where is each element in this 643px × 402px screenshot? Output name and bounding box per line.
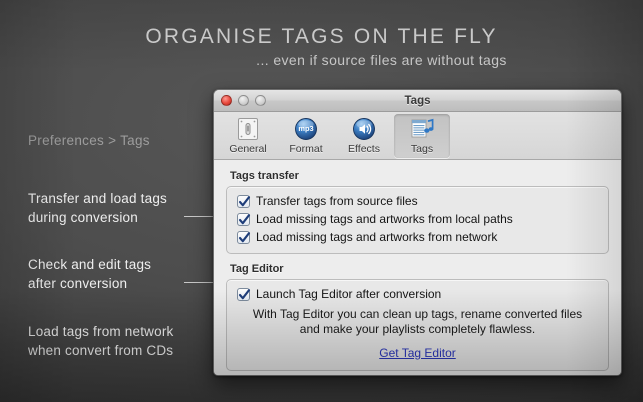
checkbox-row-transfer-tags[interactable]: Transfer tags from source files xyxy=(237,194,598,209)
checkmark-icon xyxy=(238,288,251,302)
toolbar-item-general-label: General xyxy=(229,143,266,155)
tag-editor-description-line1: With Tag Editor you can clean up tags, r… xyxy=(253,307,582,321)
checkmark-icon xyxy=(238,231,251,245)
checkbox-label-network: Load missing tags and artworks from netw… xyxy=(256,230,497,245)
checkbox-row-launch-tag-editor[interactable]: Launch Tag Editor after conversion xyxy=(237,287,598,302)
window-titlebar: Tags xyxy=(214,90,621,112)
toolbar-item-effects[interactable]: Effects xyxy=(336,114,392,158)
checkbox-transfer-tags[interactable] xyxy=(237,195,250,208)
toolbar-item-tags[interactable]: Tags xyxy=(394,114,450,158)
toolbar-item-format[interactable]: mp3 Format xyxy=(278,114,334,158)
tag-editor-description-line2: and make your playlists completely flawl… xyxy=(300,322,535,336)
tags-note-icon xyxy=(409,116,435,142)
preferences-window: Tags General xyxy=(213,89,622,376)
tag-editor-link-wrap: Get Tag Editor xyxy=(237,344,598,362)
toolbar-item-format-label: Format xyxy=(289,143,322,155)
checkbox-label-launch-tag-editor: Launch Tag Editor after conversion xyxy=(256,287,441,302)
breadcrumb: Preferences > Tags xyxy=(28,133,150,148)
toolbar-item-tags-label: Tags xyxy=(411,143,433,155)
checkbox-label-transfer-tags: Transfer tags from source files xyxy=(256,194,418,209)
mp3-badge-icon: mp3 xyxy=(293,116,319,142)
preferences-content: Tags transfer Transfer tags from source … xyxy=(214,160,621,376)
toolbar-item-general[interactable]: General xyxy=(220,114,276,158)
checkbox-row-local-paths[interactable]: Load missing tags and artworks from loca… xyxy=(237,212,598,227)
section-label-tags-transfer: Tags transfer xyxy=(230,170,609,182)
preferences-toolbar: General mp3 Format xyxy=(214,112,621,160)
annotation-note-1: Transfer and load tagsduring conversion xyxy=(28,189,167,227)
get-tag-editor-link[interactable]: Get Tag Editor xyxy=(379,346,456,360)
section-tags-transfer: Transfer tags from source files Load mis… xyxy=(226,186,609,254)
tag-editor-description: With Tag Editor you can clean up tags, r… xyxy=(237,307,598,337)
annotation-note-2: Check and edit tagsafter conversion xyxy=(28,255,151,293)
svg-text:mp3: mp3 xyxy=(298,124,313,133)
checkbox-launch-tag-editor[interactable] xyxy=(237,288,250,301)
checkbox-label-local-paths: Load missing tags and artworks from loca… xyxy=(256,212,513,227)
annotation-note-3: Load tags from networkwhen convert from … xyxy=(28,322,173,360)
checkmark-icon xyxy=(238,213,251,227)
speaker-icon xyxy=(351,116,377,142)
checkbox-local-paths[interactable] xyxy=(237,213,250,226)
section-label-tag-editor: Tag Editor xyxy=(230,263,609,275)
poster-headline: ORGANISE TAGS ON THE FLY xyxy=(0,25,643,49)
section-tag-editor: Launch Tag Editor after conversion With … xyxy=(226,279,609,371)
checkbox-network[interactable] xyxy=(237,231,250,244)
toolbar-item-effects-label: Effects xyxy=(348,143,380,155)
window-title: Tags xyxy=(214,95,621,107)
checkbox-row-network[interactable]: Load missing tags and artworks from netw… xyxy=(237,230,598,245)
checkmark-icon xyxy=(238,195,251,209)
general-panel-icon xyxy=(235,116,261,142)
poster-subheadline: ... even if source files are without tag… xyxy=(0,52,643,68)
